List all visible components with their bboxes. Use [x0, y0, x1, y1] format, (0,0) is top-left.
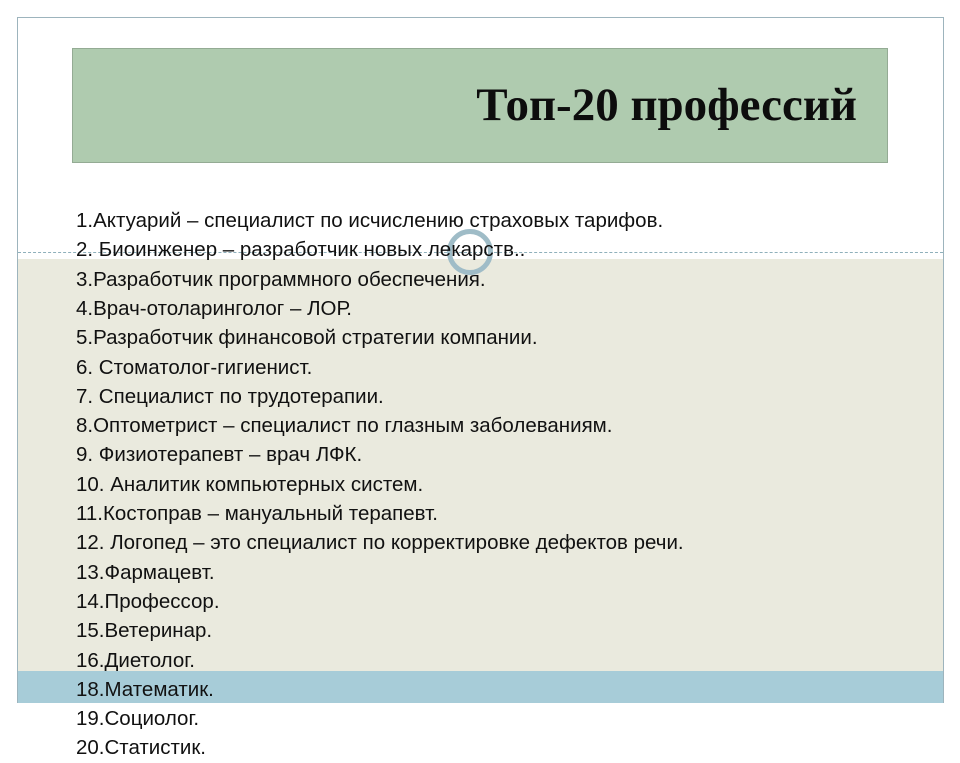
- list-item: 13.Фармацевт.: [76, 558, 916, 588]
- list-item: 18.Математик.: [76, 675, 916, 705]
- slide-canvas: Топ-20 профессий 1.Актуарий – специалист…: [0, 0, 960, 720]
- list-item: 6. Стоматолог-гигиенист.: [76, 353, 916, 383]
- list-item: 10. Аналитик компьютерных систем.: [76, 470, 916, 500]
- list-item: 8.Оптометрист – специалист по глазным за…: [76, 411, 916, 441]
- list-item: 12. Логопед – это специалист по корректи…: [76, 528, 916, 558]
- list-item: 9. Физиотерапевт – врач ЛФК.: [76, 440, 916, 470]
- list-item: 14.Профессор.: [76, 587, 916, 617]
- list-item: 2. Биоинженер – разработчик новых лекарс…: [76, 235, 916, 265]
- list-item: 7. Специалист по трудотерапии.: [76, 382, 916, 412]
- professions-list: 1.Актуарий – специалист по исчислению ст…: [0, 0, 960, 720]
- list-item: 5.Разработчик финансовой стратегии компа…: [76, 323, 916, 353]
- list-item: 4.Врач-отоларинголог – ЛОР.: [76, 294, 916, 324]
- list-item: 1.Актуарий – специалист по исчислению ст…: [76, 206, 916, 236]
- list-item: 19.Социолог.: [76, 704, 916, 734]
- list-item: 3.Разработчик программного обеспечения.: [76, 265, 916, 295]
- list-item: 16.Диетолог.: [76, 646, 916, 676]
- list-item: 15.Ветеринар.: [76, 616, 916, 646]
- list-item: 20.Статистик.: [76, 733, 916, 763]
- list-item: 11.Костоправ – мануальный терапевт.: [76, 499, 916, 529]
